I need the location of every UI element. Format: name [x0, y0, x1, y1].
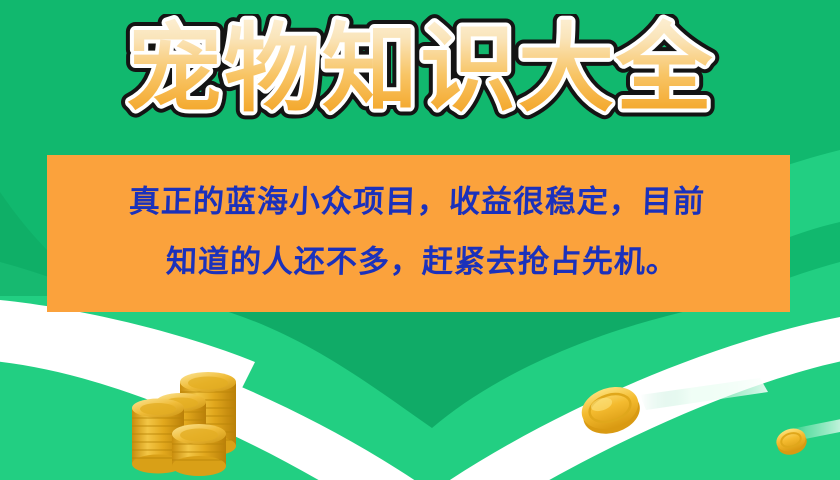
headline-line-1: 真正的蓝海小众项目，收益很稳定，目前	[127, 172, 705, 232]
poster-canvas: 宠物知识大全 宠物知识大全 宠物知识大全 真正的蓝海小众项目，收益很稳定，目前 …	[0, 0, 840, 480]
title-fill: 宠物知识大全	[126, 14, 714, 125]
title-artwork: 宠物知识大全 宠物知识大全 宠物知识大全	[110, 14, 730, 134]
poster-title: 宠物知识大全 宠物知识大全 宠物知识大全	[0, 14, 840, 134]
coin-stack-front	[172, 424, 226, 476]
headline-banner: 真正的蓝海小众项目，收益很稳定，目前 知道的人还不多，赶紧去抢占先机。	[47, 155, 790, 312]
headline-line-2: 知道的人还不多，赶紧去抢占先机。	[164, 232, 678, 292]
